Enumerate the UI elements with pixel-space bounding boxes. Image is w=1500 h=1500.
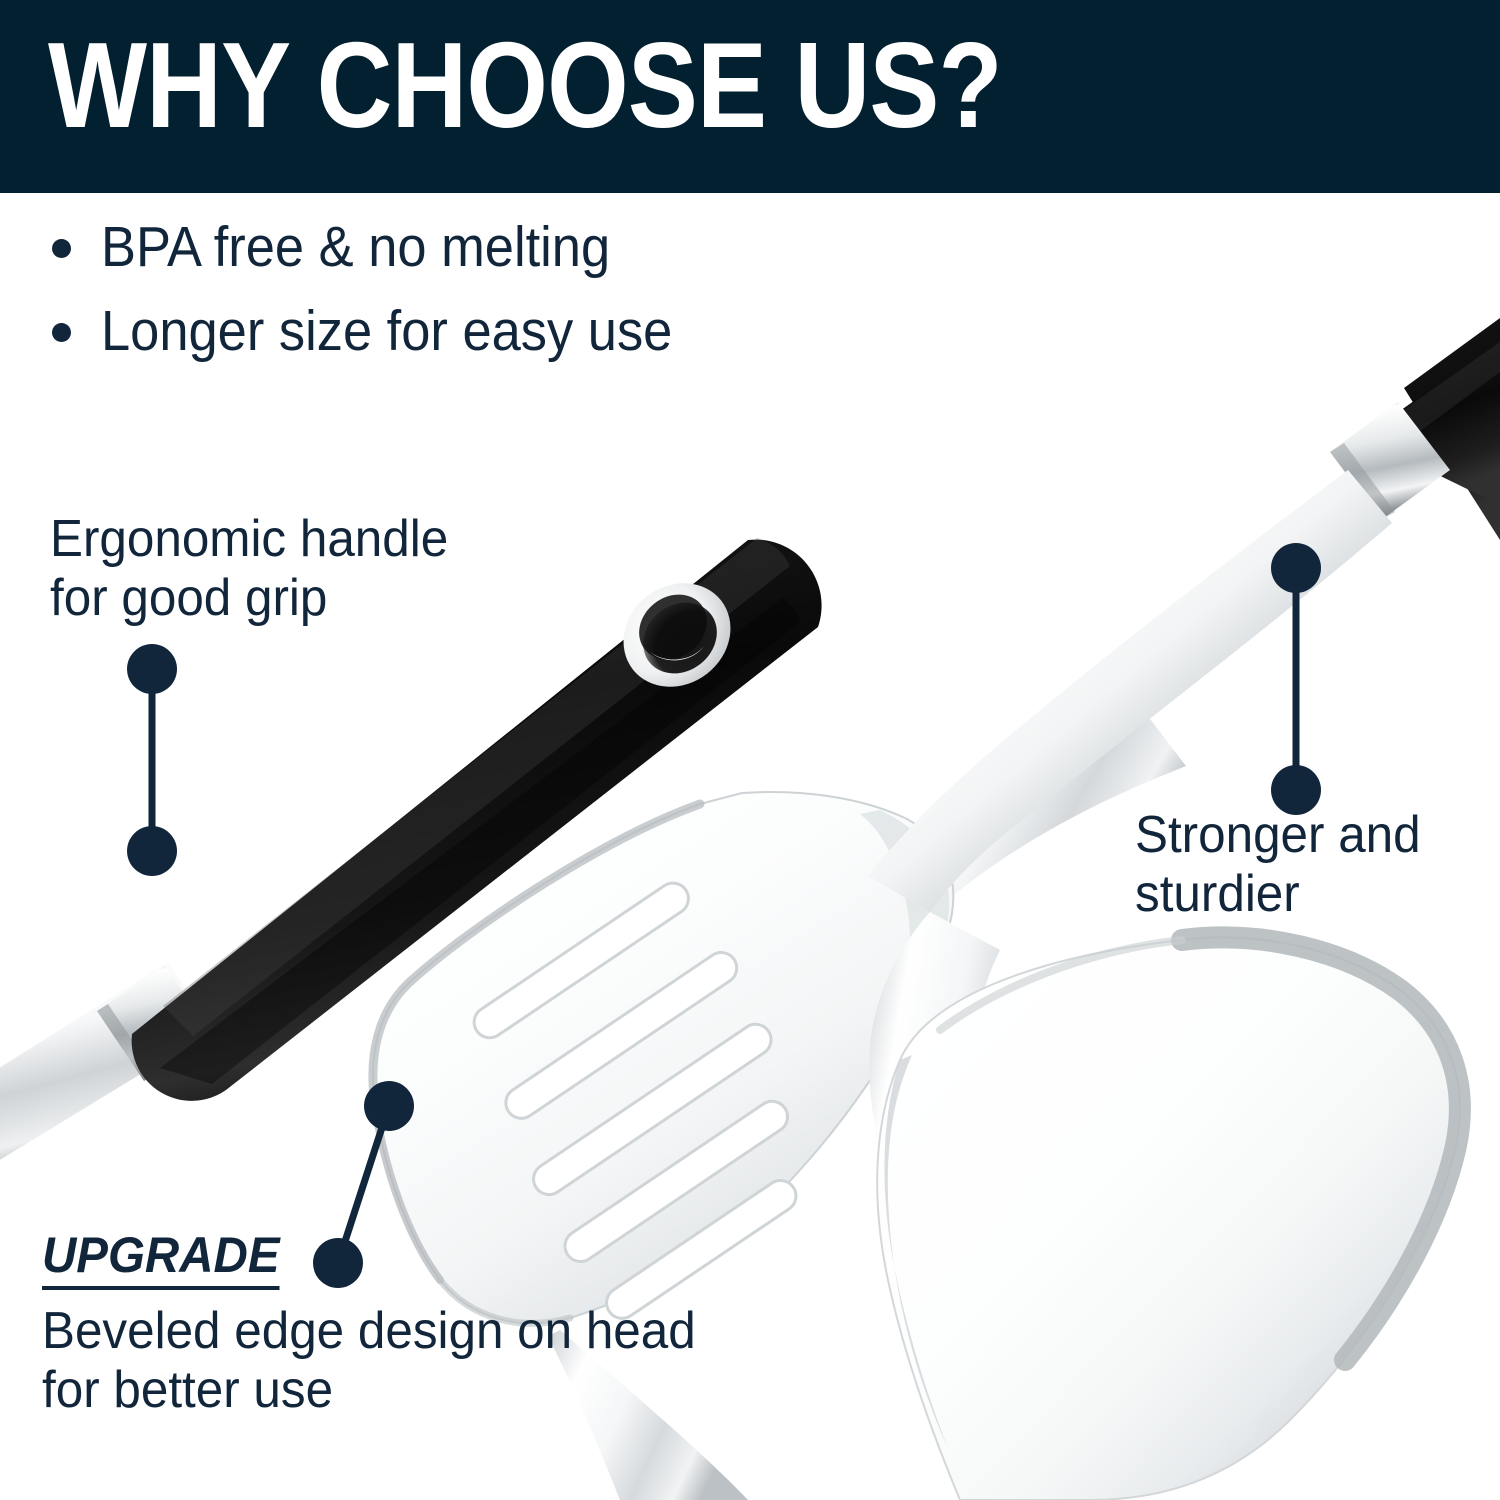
benefit-bullet-list: BPA free & no melting Longer size for ea…: [52, 216, 952, 384]
list-item: Longer size for easy use: [52, 300, 952, 364]
callout-stronger-sturdier: Stronger and sturdier: [1135, 806, 1421, 924]
upgrade-badge: UPGRADE: [42, 1228, 280, 1290]
callout-beveled-edge: UPGRADE Beveled edge design on head for …: [42, 1228, 730, 1420]
infographic-page: WHY CHOOSE US? BPA free & no melting Lon…: [0, 0, 1500, 1500]
header-band: WHY CHOOSE US?: [0, 0, 1500, 193]
callout-ergonomic-handle: Ergonomic handle for good grip: [50, 510, 448, 628]
bullet-dot-icon: [52, 323, 71, 342]
page-title: WHY CHOOSE US?: [48, 24, 1002, 146]
list-item: BPA free & no melting: [52, 216, 952, 280]
bullet-dot-icon: [52, 239, 71, 258]
upgrade-description: Beveled edge design on head for better u…: [42, 1302, 696, 1420]
bullet-label: Longer size for easy use: [101, 300, 672, 364]
solid-turner-head: [877, 937, 1460, 1500]
bullet-label: BPA free & no melting: [101, 216, 610, 280]
